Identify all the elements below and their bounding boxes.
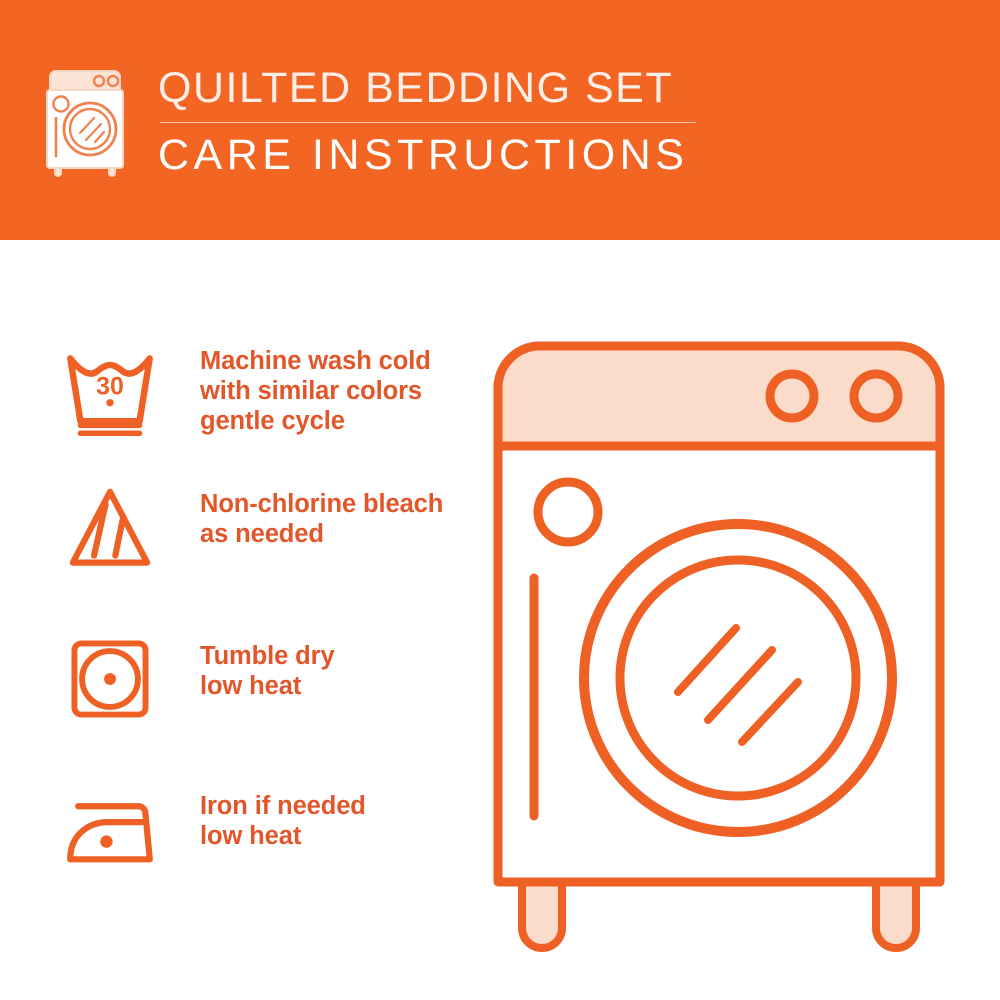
care-label-line: gentle cycle: [200, 406, 431, 436]
front-load-washing-machine-illustration: [480, 300, 1000, 980]
care-label-line: as needed: [200, 519, 443, 549]
care-label-line: with similar colors: [200, 376, 431, 406]
iron-low-heat-icon: [48, 785, 172, 877]
wash-temperature-value: 30: [96, 372, 124, 400]
washer-leg-left: [522, 880, 562, 948]
page-subtitle: CARE INSTRUCTIONS: [158, 131, 696, 179]
machine-wash-30-gentle-icon: 30: [48, 340, 172, 436]
care-row-bleach: Non-chlorine bleach as needed: [48, 483, 478, 575]
washer-leg-right: [876, 880, 916, 948]
care-label-iron: Iron if needed low heat: [172, 785, 366, 851]
care-row-tumble-dry: Tumble dry low heat: [48, 635, 478, 723]
care-label-tumble-dry: Tumble dry low heat: [172, 635, 335, 701]
header-banner: QUILTED BEDDING SET CARE INSTRUCTIONS: [0, 0, 1000, 240]
care-label-line: Iron if needed: [200, 791, 366, 821]
care-label-line: Tumble dry: [200, 641, 335, 671]
care-label-line: Non-chlorine bleach: [200, 489, 443, 519]
care-label-bleach: Non-chlorine bleach as needed: [172, 483, 443, 549]
title-divider: [160, 122, 696, 123]
washing-machine-icon: [42, 68, 134, 180]
care-row-iron: Iron if needed low heat: [48, 785, 478, 877]
non-chlorine-bleach-triangle-icon: [48, 483, 172, 575]
washer-control-panel: [498, 346, 940, 446]
care-instruction-list: 30 Machine wash cold with similar colors…: [0, 240, 480, 1000]
care-label-line: low heat: [200, 671, 335, 701]
care-label-line: low heat: [200, 821, 366, 851]
page-title: QUILTED BEDDING SET: [158, 64, 696, 112]
care-label-machine-wash: Machine wash cold with similar colors ge…: [172, 340, 431, 436]
header-titles: QUILTED BEDDING SET CARE INSTRUCTIONS: [158, 62, 696, 179]
care-row-machine-wash: 30 Machine wash cold with similar colors…: [48, 340, 478, 436]
care-label-line: Machine wash cold: [200, 346, 431, 376]
tumble-dry-low-heat-icon: [48, 635, 172, 723]
header-content: QUILTED BEDDING SET CARE INSTRUCTIONS: [42, 62, 696, 180]
